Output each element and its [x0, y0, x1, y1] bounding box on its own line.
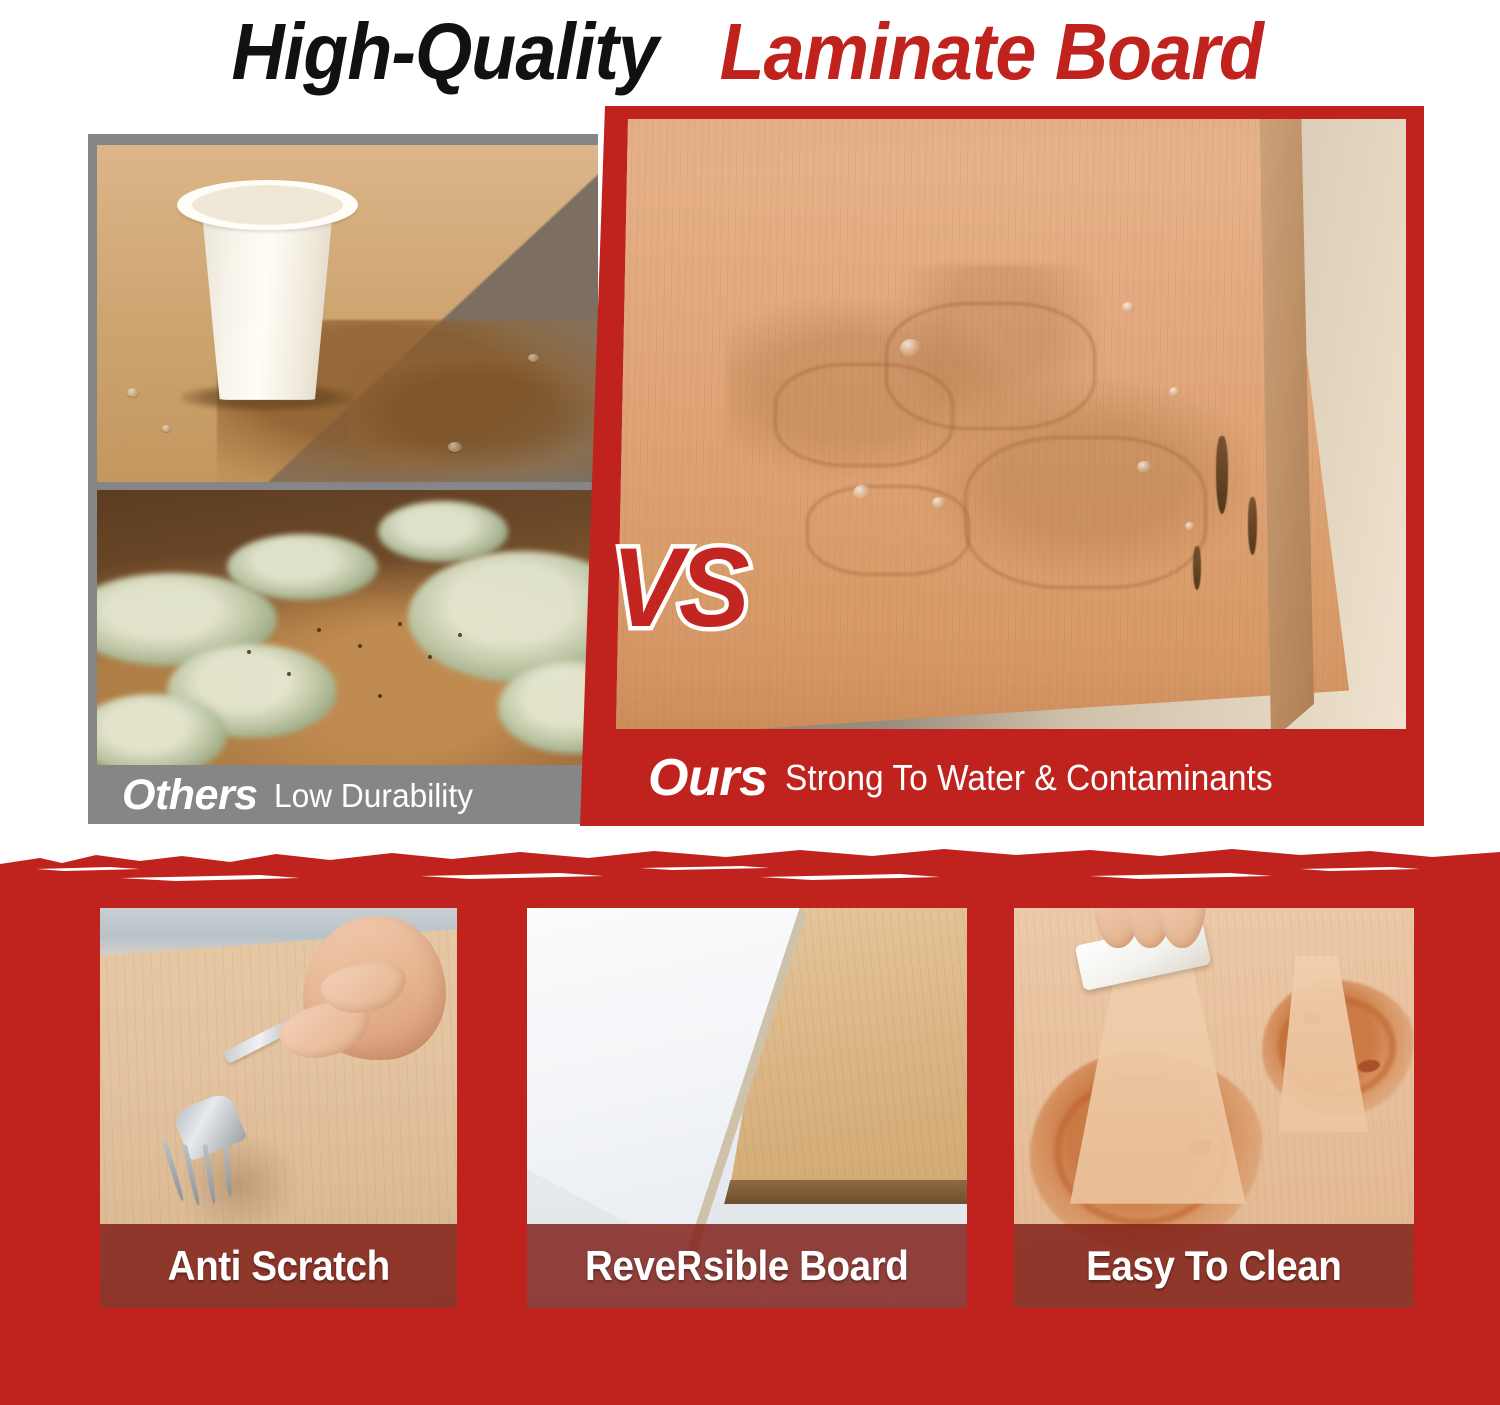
wood-board-edge — [712, 1180, 967, 1204]
coffee-spill-stain-secondary — [348, 354, 599, 469]
feature-caption-anti-scratch: Anti Scratch — [100, 1224, 457, 1308]
mold-spot — [428, 655, 432, 659]
vs-badge: VS — [612, 532, 746, 644]
cup-interior — [192, 188, 344, 222]
mold-spot — [358, 644, 362, 648]
mold-spot — [398, 622, 402, 626]
feature-card-anti-scratch: Anti Scratch — [100, 908, 457, 1308]
page-title-black-part: High-Quality — [231, 12, 657, 92]
caption-text-after: sible Board — [703, 1242, 908, 1289]
page-title-red-part: Laminate Board — [720, 12, 1263, 92]
water-outline — [964, 436, 1207, 588]
mold-spot — [247, 650, 251, 654]
water-droplet — [1122, 302, 1135, 313]
feature-row: Anti Scratch ReveRsible Board — [0, 908, 1500, 1348]
caption-text-before: Reve — [585, 1242, 676, 1289]
water-droplet — [853, 485, 871, 500]
mold-spot — [378, 694, 382, 698]
paper-cup — [177, 175, 357, 404]
others-title: Others — [122, 774, 258, 817]
mold-spot — [287, 672, 291, 676]
ours-title: Ours — [648, 752, 767, 804]
feature-card-reversible-board: ReveRsible Board — [527, 908, 967, 1308]
feature-caption-text: ReveRsible Board — [585, 1242, 908, 1290]
ours-subtitle: Strong To Water & Contaminants — [785, 760, 1273, 796]
droplet-icon — [448, 442, 462, 452]
feature-caption-easy-to-clean: Easy To Clean — [1014, 1224, 1414, 1308]
feature-caption-text: Anti Scratch — [167, 1242, 389, 1290]
coffee-spill-photo — [97, 145, 598, 482]
water-droplet — [1137, 461, 1152, 473]
red-brush-stroke-divider — [0, 834, 1500, 898]
water-drip — [1193, 546, 1201, 590]
droplet-icon — [528, 354, 539, 362]
ours-card: Ours Strong To Water & Contaminants — [580, 106, 1424, 826]
water-droplet — [900, 339, 922, 357]
others-card: Others Low Durability — [88, 134, 598, 824]
mold-colony — [227, 534, 377, 600]
mold-spot — [458, 633, 462, 637]
feature-caption-text: Easy To Clean — [1086, 1242, 1341, 1290]
feature-card-easy-to-clean: Easy To Clean — [1014, 908, 1414, 1308]
water-droplet — [1185, 522, 1195, 531]
water-outline — [806, 485, 970, 576]
droplet-icon — [127, 388, 139, 397]
feature-caption-reversible-board: ReveRsible Board — [527, 1224, 967, 1308]
mold-colony — [378, 501, 508, 562]
ours-label: Ours Strong To Water & Contaminants — [580, 730, 1424, 826]
droplet-icon — [162, 425, 171, 432]
reversed-r-letter: R — [677, 1242, 702, 1290]
page-title: High-Quality Laminate Board — [0, 0, 1500, 104]
others-label: Others Low Durability — [88, 766, 598, 824]
mold-photo — [97, 490, 598, 765]
others-subtitle: Low Durability — [274, 779, 473, 812]
water-drip — [1248, 497, 1257, 555]
water-outline — [885, 302, 1096, 430]
features-section: Anti Scratch ReveRsible Board — [0, 834, 1500, 1405]
comparison-section: Others Low Durability Ours — [0, 104, 1500, 834]
